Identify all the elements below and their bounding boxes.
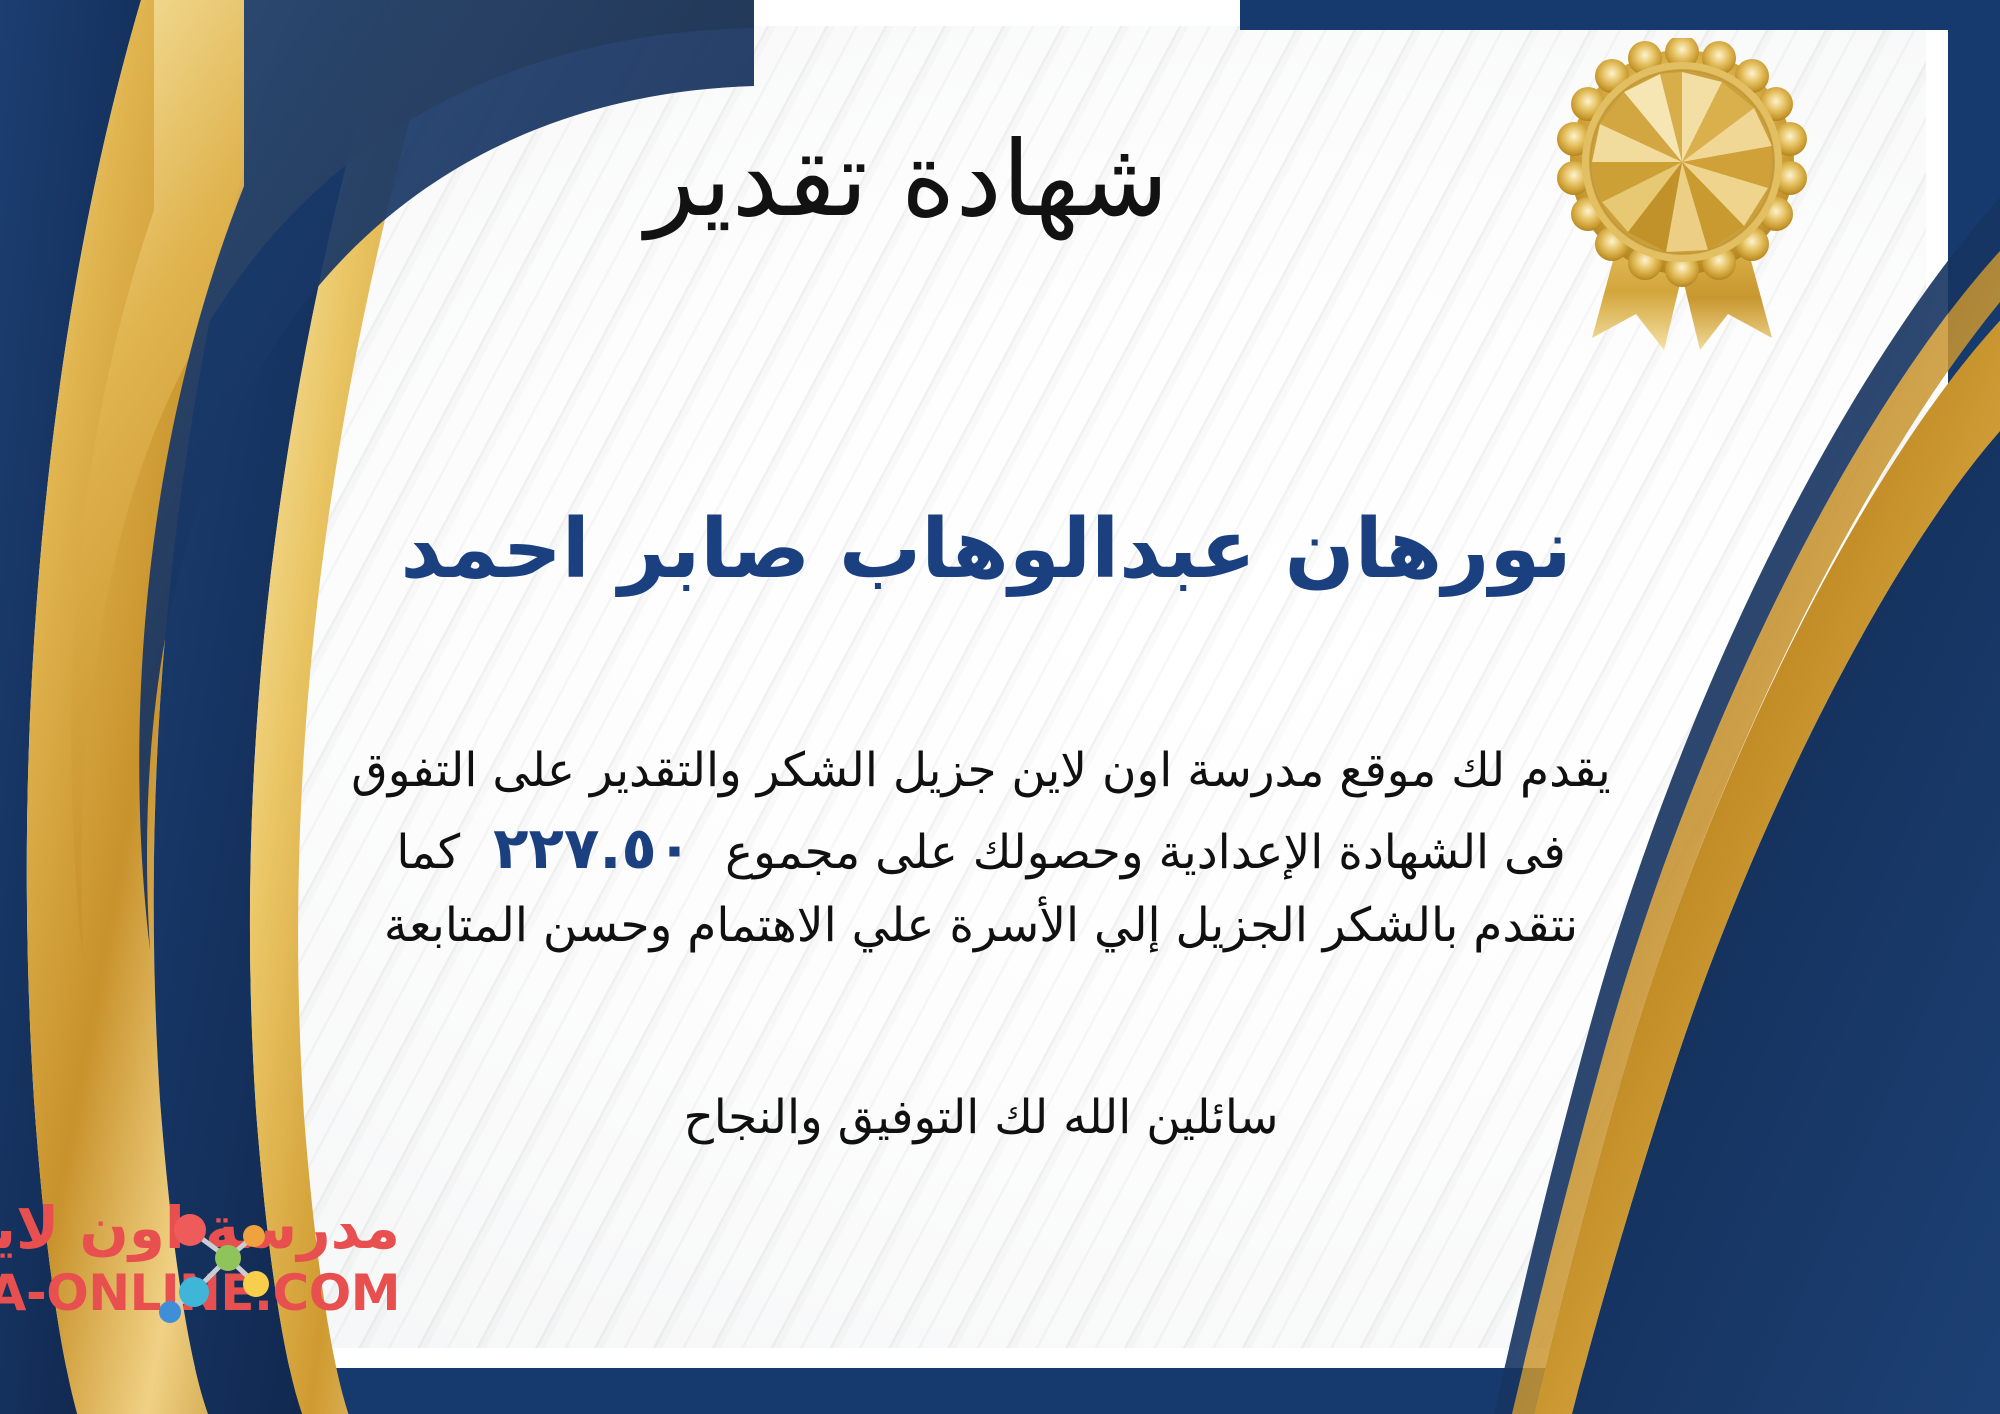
navy-right-border bbox=[1948, 0, 2000, 1414]
brand-logo[interactable]: مدرسة اون لاين MADRSA-ONLINE.COM bbox=[30, 1192, 550, 1342]
closing-text: سائلين الله لك التوفيق والنجاح bbox=[80, 1083, 1904, 1154]
recipient-name: نورهان عبدالوهاب صابر احمد bbox=[80, 505, 1904, 595]
certificate-body: يقدم لك موقع مدرسة اون لاين جزيل الشكر و… bbox=[80, 736, 1904, 961]
body-line-2-suffix: كما bbox=[396, 825, 460, 880]
grade-value: ٢٢٧.٥٠ bbox=[475, 814, 710, 882]
body-line-2-prefix: فى الشهادة الإعدادية وحصولك على مجموع bbox=[725, 825, 1566, 880]
body-line-1: يقدم لك موقع مدرسة اون لاين جزيل الشكر و… bbox=[80, 736, 1882, 806]
certificate-canvas: شهادة تقدير نورهان عبدالوهاب صابر احمد ي… bbox=[0, 0, 2000, 1414]
page-title: شهادة تقدير bbox=[80, 122, 1904, 236]
body-line-2: فى الشهادة الإعدادية وحصولك على مجموع ٢٢… bbox=[80, 806, 1882, 892]
body-line-3: نتقدم بالشكر الجزيل إلي الأسرة علي الاهت… bbox=[80, 891, 1882, 961]
network-nodes-logo-icon bbox=[150, 1200, 280, 1330]
